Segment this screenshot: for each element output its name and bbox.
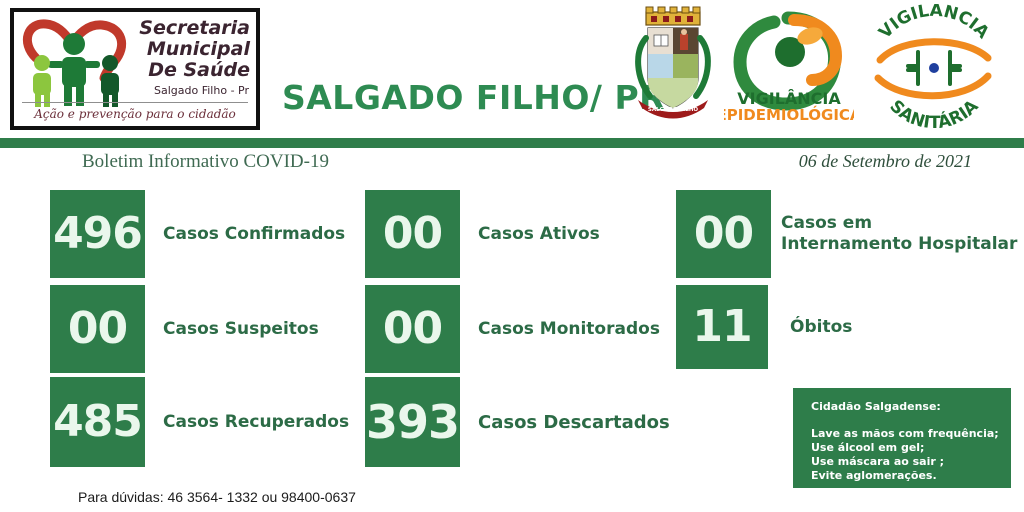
stat-value: 00 — [383, 307, 442, 351]
stat-label: Casos Suspeitos — [163, 319, 319, 340]
stat-value-box: 485 — [50, 377, 145, 467]
svg-text:VIGILÂNCIA: VIGILÂNCIA — [875, 4, 993, 43]
stat-casos-internamento-hospitalar: 00 Casos em Internamento Hospitalar — [676, 190, 1017, 278]
header-divider-bar — [0, 138, 1024, 148]
stat-value-box: 11 — [676, 285, 768, 369]
vigilancia-sanitaria-icon: VIGILÂNCIA SANITÁRIA — [860, 4, 1008, 128]
stat-value: 00 — [694, 212, 753, 256]
stat-label: Casos em Internamento Hospitalar — [781, 213, 1017, 255]
bulletin-date: 06 de Setembro de 2021 — [799, 151, 972, 172]
advisory-heading: Cidadão Salgadense: — [811, 400, 1011, 413]
stat-casos-descartados: 393 Casos Descartados — [365, 377, 670, 467]
vigep-line2: EPIDEMIOLÓGICA — [724, 105, 854, 124]
advisory-line-4: Evite aglomerações. — [811, 469, 1011, 483]
stat-casos-suspeitos: 00 Casos Suspeitos — [50, 285, 319, 373]
stat-value: 485 — [53, 400, 142, 444]
page-title: SALGADO FILHO/ PR — [282, 78, 665, 117]
stat-value-box: 393 — [365, 377, 460, 467]
svg-text:SANITÁRIA: SANITÁRIA — [886, 96, 984, 128]
stat-value: 496 — [53, 212, 142, 256]
stat-casos-ativos: 00 Casos Ativos — [365, 190, 600, 278]
advisory-line-2: Use álcool em gel; — [811, 441, 1011, 455]
stat-value: 00 — [383, 212, 442, 256]
logo-slogan-text: Ação e prevenção para o cidadão — [14, 107, 256, 121]
contact-info: Para dúvidas: 46 3564- 1332 ou 98400-063… — [78, 489, 356, 505]
stat-label: Casos Confirmados — [163, 224, 345, 245]
stat-value-box: 00 — [50, 285, 145, 373]
svg-text:SALGADO FILHO: SALGADO FILHO — [648, 107, 699, 113]
stat-value: 11 — [692, 305, 751, 349]
stat-label: Óbitos — [790, 317, 852, 338]
logo-divider — [22, 102, 248, 103]
stat-casos-monitorados: 00 Casos Monitorados — [365, 285, 660, 373]
stat-value: 393 — [366, 399, 459, 445]
stat-value-box: 00 — [365, 285, 460, 373]
vigilancia-epidemiologica-icon: VIGILÂNCIA EPIDEMIOLÓGICA — [724, 8, 854, 126]
stat-label: Casos Descartados — [478, 412, 670, 433]
advisory-line-1: Lave as mãos com frequência; — [811, 427, 1011, 441]
covid-bulletin-page: Secretaria Municipal De Saúde Salgado Fi… — [0, 0, 1024, 512]
advisory-line-3: Use máscara ao sair ; — [811, 455, 1011, 469]
stat-value: 00 — [68, 307, 127, 351]
header: Secretaria Municipal De Saúde Salgado Fi… — [0, 0, 1024, 138]
brasao-icon: SALGADO FILHO — [630, 4, 716, 126]
logo-title-text: Secretaria Municipal De Saúde — [100, 18, 250, 81]
stat-value-box: 00 — [676, 190, 771, 278]
stat-label: Casos Ativos — [478, 224, 600, 245]
stat-label: Casos Recuperados — [163, 412, 349, 433]
stat-label: Casos Monitorados — [478, 319, 660, 340]
logo-subtitle-text: Salgado Filho - Pr — [99, 84, 249, 97]
advisory-panel: Cidadão Salgadense: Lave as mãos com fre… — [793, 388, 1011, 488]
bulletin-label: Boletim Informativo COVID-19 — [82, 151, 329, 173]
stat-casos-recuperados: 485 Casos Recuperados — [50, 377, 349, 467]
stat-value-box: 00 — [365, 190, 460, 278]
secretaria-municipal-saude-logo: Secretaria Municipal De Saúde Salgado Fi… — [10, 8, 260, 130]
stat-casos-confirmados: 496 Casos Confirmados — [50, 190, 345, 278]
stat-obitos: 11 Óbitos — [676, 285, 852, 369]
stat-value-box: 496 — [50, 190, 145, 278]
